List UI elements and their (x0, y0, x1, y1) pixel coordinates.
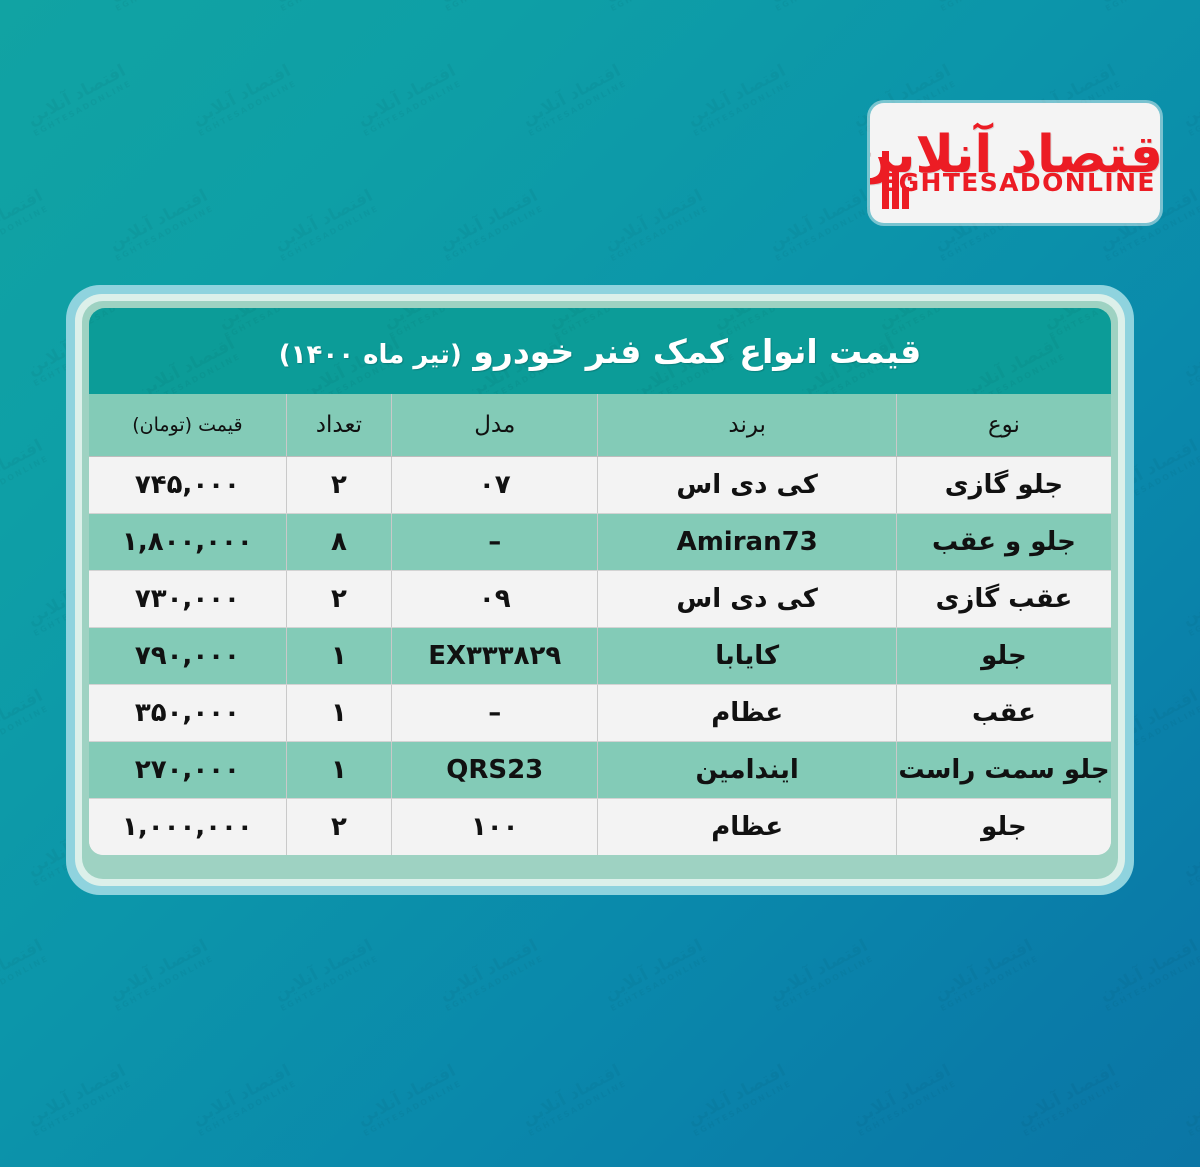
watermark-text: اقتصاد آنلاینEGHTESADONLINE (1039, 308, 1111, 341)
watermark-text: اقتصاد آنلاینEGHTESADONLINE (1177, 311, 1200, 388)
cell-type: جلو (896, 627, 1111, 684)
watermark-text: اقتصاد آنلاینEGHTESADONLINE (0, 0, 50, 13)
watermark-text: اقتصاد آنلاینEGHTESADONLINE (105, 0, 216, 13)
cell-model: – (392, 513, 598, 570)
card-title-band: اقتصاد آنلاینEGHTESADONLINEاقتصاد آنلاین… (89, 308, 1111, 394)
cell-type: جلو (896, 798, 1111, 855)
cell-count: ۲ (286, 456, 391, 513)
watermark-text: اقتصاد آنلاینEGHTESADONLINE (1177, 561, 1200, 638)
table-row: جلو و عقبAmiran73–۸۱,۸۰۰,۰۰۰ (89, 513, 1111, 570)
watermark-text: اقتصاد آنلاینEGHTESADONLINE (847, 1061, 958, 1138)
cell-type: عقب (896, 684, 1111, 741)
page-title-main: قیمت انواع کمک فنر خودرو (473, 332, 921, 371)
cell-price: ۷۹۰,۰۰۰ (89, 627, 286, 684)
watermark-text: اقتصاد آنلاینEGHTESADONLINE (765, 186, 876, 263)
watermark-text: اقتصاد آنلاینEGHTESADONLINE (22, 1061, 133, 1138)
column-header-price: قیمت (تومان) (89, 394, 286, 456)
watermark-text: اقتصاد آنلاینEGHTESADONLINE (956, 334, 1067, 394)
cell-type: جلو و عقب (896, 513, 1111, 570)
cell-count: ۲ (286, 798, 391, 855)
watermark-text: اقتصاد آنلاینEGHTESADONLINE (131, 334, 242, 394)
watermark-text: اقتصاد آنلاینEGHTESADONLINE (270, 0, 381, 13)
watermark-text: اقتصاد آنلاینEGHTESADONLINE (1012, 1061, 1123, 1138)
watermark-text: اقتصاد آنلاینEGHTESADONLINE (930, 0, 1041, 13)
cell-brand: کایابا (598, 627, 896, 684)
watermark-text: اقتصاد آنلاینEGHTESADONLINE (1095, 0, 1200, 13)
cell-price: ۳۵۰,۰۰۰ (89, 684, 286, 741)
cell-model: QRS23 (392, 741, 598, 798)
watermark-text: اقتصاد آنلاینEGHTESADONLINE (270, 936, 381, 1013)
watermark-text: اقتصاد آنلاینEGHTESADONLINE (187, 61, 298, 138)
cell-brand: Amiran73 (598, 513, 896, 570)
column-header-model: مدل (392, 394, 598, 456)
page-title: قیمت انواع کمک فنر خودرو (تیر ماه ۱۴۰۰) (279, 332, 922, 371)
cell-brand: عظام (598, 798, 896, 855)
watermark-text: اقتصاد آنلاینEGHTESADONLINE (187, 1061, 298, 1138)
watermark-text: اقتصاد آنلاینEGHTESADONLINE (765, 0, 876, 13)
watermark-text: اقتصاد آنلاینEGHTESADONLINE (435, 936, 546, 1013)
site-logo: اقتصاد آنلاین EGHTESADONLINE (870, 103, 1160, 223)
watermark-text: اقتصاد آنلاینEGHTESADONLINE (600, 936, 711, 1013)
watermark-text: اقتصاد آنلاینEGHTESADONLINE (435, 186, 546, 263)
cell-model: – (392, 684, 598, 741)
cell-brand: عظام (598, 684, 896, 741)
watermark-text: اقتصاد آنلاینEGHTESADONLINE (600, 0, 711, 13)
page-title-date: (تیر ماه ۱۴۰۰) (279, 340, 462, 370)
watermark-text: اقتصاد آنلاینEGHTESADONLINE (0, 436, 50, 513)
price-table: نوع برند مدل تعداد قیمت (تومان) جلو گازی… (89, 394, 1111, 855)
cell-brand: کی دی اس (598, 456, 896, 513)
price-card-frame-mid: اقتصاد آنلاینEGHTESADONLINEاقتصاد آنلاین… (75, 294, 1125, 886)
table-row: جلو گازیکی دی اس۰۷۲۷۴۵,۰۰۰ (89, 456, 1111, 513)
watermark-text: اقتصاد آنلاینEGHTESADONLINE (0, 936, 50, 1013)
watermark-text: اقتصاد آنلاینEGHTESADONLINE (0, 186, 50, 263)
column-header-type: نوع (896, 394, 1111, 456)
column-header-count: تعداد (286, 394, 391, 456)
watermark-text: اقتصاد آنلاینEGHTESADONLINE (517, 61, 628, 138)
watermark-text: اقتصاد آنلاینEGHTESADONLINE (682, 1061, 793, 1138)
watermark-text: اقتصاد آنلاینEGHTESADONLINE (1177, 61, 1200, 138)
cell-model: ۱۰۰ (392, 798, 598, 855)
price-card-frame-inner: اقتصاد آنلاینEGHTESADONLINEاقتصاد آنلاین… (82, 301, 1118, 879)
cell-type: جلو گازی (896, 456, 1111, 513)
cell-model: EX۳۳۳۸۲۹ (392, 627, 598, 684)
watermark-text: اقتصاد آنلاینEGHTESADONLINE (765, 936, 876, 1013)
cell-price: ۱,۸۰۰,۰۰۰ (89, 513, 286, 570)
column-header-brand: برند (598, 394, 896, 456)
watermark-text: اقتصاد آنلاینEGHTESADONLINE (270, 186, 381, 263)
cell-count: ۸ (286, 513, 391, 570)
watermark-text: اقتصاد آنلاینEGHTESADONLINE (517, 1061, 628, 1138)
watermark-text: اقتصاد آنلاینEGHTESADONLINE (930, 936, 1041, 1013)
logo-bars-icon (882, 151, 909, 209)
cell-brand: ایندامین (598, 741, 896, 798)
watermark-text: اقتصاد آنلاینEGHTESADONLINE (22, 61, 133, 138)
watermark-text: اقتصاد آنلاینEGHTESADONLINE (352, 1061, 463, 1138)
watermark-text: اقتصاد آنلاینEGHTESADONLINE (105, 186, 216, 263)
table-row: عقب گازیکی دی اس۰۹۲۷۳۰,۰۰۰ (89, 570, 1111, 627)
watermark-text: اقتصاد آنلاینEGHTESADONLINE (1095, 936, 1200, 1013)
table-row: جلوکایاباEX۳۳۳۸۲۹۱۷۹۰,۰۰۰ (89, 627, 1111, 684)
cell-price: ۷۴۵,۰۰۰ (89, 456, 286, 513)
cell-price: ۱,۰۰۰,۰۰۰ (89, 798, 286, 855)
cell-count: ۱ (286, 627, 391, 684)
table-header-row: نوع برند مدل تعداد قیمت (تومان) (89, 394, 1111, 456)
price-card: اقتصاد آنلاینEGHTESADONLINEاقتصاد آنلاین… (66, 285, 1134, 895)
cell-count: ۱ (286, 684, 391, 741)
table-header: نوع برند مدل تعداد قیمت (تومان) (89, 394, 1111, 456)
watermark-text: اقتصاد آنلاینEGHTESADONLINE (1177, 811, 1200, 888)
cell-price: ۷۳۰,۰۰۰ (89, 570, 286, 627)
cell-count: ۲ (286, 570, 391, 627)
watermark-text: اقتصاد آنلاینEGHTESADONLINE (0, 686, 50, 763)
table-row: عقبعظام–۱۳۵۰,۰۰۰ (89, 684, 1111, 741)
logo-text-en: EGHTESADONLINE (880, 168, 1156, 197)
watermark-text: اقتصاد آنلاینEGHTESADONLINE (352, 61, 463, 138)
price-table-wrapper: اقتصاد آنلاینEGHTESADONLINEاقتصاد آنلاین… (89, 394, 1111, 855)
watermark-text: اقتصاد آنلاینEGHTESADONLINE (89, 308, 159, 341)
watermark-text: اقتصاد آنلاینEGHTESADONLINE (682, 61, 793, 138)
cell-model: ۰۹ (392, 570, 598, 627)
cell-price: ۲۷۰,۰۰۰ (89, 741, 286, 798)
watermark-text: اقتصاد آنلاینEGHTESADONLINE (435, 0, 546, 13)
watermark-text: اقتصاد آنلاینEGHTESADONLINE (1177, 1061, 1200, 1138)
watermark-text: اقتصاد آنلاینEGHTESADONLINE (600, 186, 711, 263)
table-row: جلوعظام۱۰۰۲۱,۰۰۰,۰۰۰ (89, 798, 1111, 855)
cell-model: ۰۷ (392, 456, 598, 513)
cell-count: ۱ (286, 741, 391, 798)
table-row: جلو سمت راستایندامینQRS23۱۲۷۰,۰۰۰ (89, 741, 1111, 798)
watermark-text: اقتصاد آنلاینEGHTESADONLINE (105, 936, 216, 1013)
table-body: جلو گازیکی دی اس۰۷۲۷۴۵,۰۰۰جلو و عقبAmira… (89, 456, 1111, 855)
cell-type: جلو سمت راست (896, 741, 1111, 798)
cell-type: عقب گازی (896, 570, 1111, 627)
cell-brand: کی دی اس (598, 570, 896, 627)
